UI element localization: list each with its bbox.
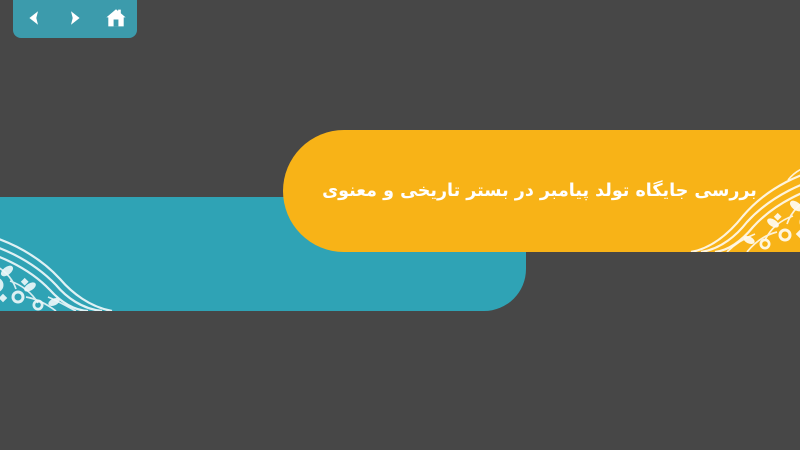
forward-arrow-icon bbox=[66, 9, 84, 27]
back-button[interactable] bbox=[19, 5, 49, 31]
arabesque-corner-ornament bbox=[0, 197, 145, 311]
home-icon bbox=[105, 8, 127, 28]
arabesque-corner-ornament bbox=[658, 130, 800, 252]
navigation-bar bbox=[13, 0, 137, 38]
orange-title-band bbox=[283, 130, 800, 252]
forward-button[interactable] bbox=[60, 5, 90, 31]
home-button[interactable] bbox=[101, 5, 131, 31]
back-arrow-icon bbox=[25, 9, 43, 27]
presentation-slide: بررسی جایگاه تولد پیامبر در بستر تاریخی … bbox=[0, 0, 800, 450]
